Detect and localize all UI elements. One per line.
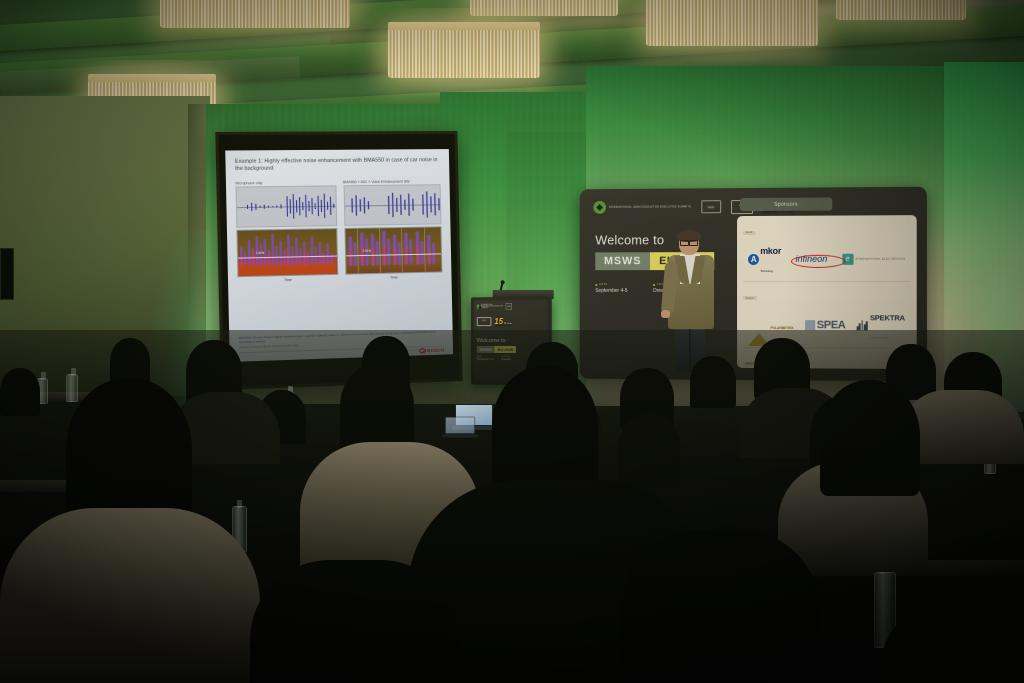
axis-x-left: Time bbox=[237, 277, 337, 283]
semi-logo: SEMI bbox=[506, 303, 512, 310]
amkor-subtext: Technology bbox=[760, 270, 773, 273]
panel-label-right: BMA550 + MIC + Voice Enhancement SW bbox=[343, 179, 441, 184]
sponsors-header: Sponsors bbox=[740, 197, 832, 211]
sponsor-logo-ieo: e INTERNATIONAL ELECTRONICS bbox=[842, 253, 905, 264]
water-bottle bbox=[66, 374, 78, 402]
khz-marker-left: 1 kHz bbox=[256, 250, 265, 254]
audience-member bbox=[340, 364, 414, 452]
tier-logos: A mkor Technology infineon e INTERNATION… bbox=[743, 240, 911, 277]
banner-welcome-text: Welcome to bbox=[595, 232, 664, 247]
podium-logo-row: INTERNATIONAL SEMICONDUCTOR EXECUTIVE SU… bbox=[477, 303, 512, 310]
audience-shoulders-foreground bbox=[620, 530, 820, 683]
banner-date: DATE September 4-5 bbox=[595, 283, 627, 293]
slide-title: Example 1: Highly effective noise enhanc… bbox=[235, 157, 440, 173]
sponsor-logo-infineon: infineon bbox=[792, 252, 832, 266]
spectrogram-svg bbox=[345, 228, 441, 274]
chandelier bbox=[470, 0, 618, 16]
waveform-svg bbox=[348, 188, 441, 221]
chandelier bbox=[646, 0, 818, 52]
iss-org-name: INTERNATIONAL SEMICONDUCTOR EXECUTIVE SU… bbox=[609, 205, 691, 209]
glasses-icon bbox=[680, 240, 698, 244]
audience-member bbox=[618, 414, 680, 486]
sponsor-tier-gold: Gold A mkor Technology infineon e INTERN… bbox=[737, 215, 917, 277]
chandelier bbox=[388, 22, 540, 84]
audience-member-foreground bbox=[492, 366, 598, 492]
spectrogram-right: Frequency bbox=[344, 227, 442, 275]
anniversary-suffix: th bbox=[504, 322, 506, 325]
spectrogram-left: Frequency bbox=[236, 228, 337, 277]
audience-laptop bbox=[442, 417, 477, 438]
date-value: September 4-5 bbox=[595, 287, 627, 293]
audience-member-foreground bbox=[820, 380, 920, 496]
iss-logo: INTERNATIONAL SEMICONDUCTOR EXECUTIVE SU… bbox=[477, 304, 504, 309]
iss-org-name: INTERNATIONAL SEMICONDUCTOR EXECUTIVE SU… bbox=[481, 304, 504, 309]
audience-member bbox=[0, 368, 40, 416]
waveform-svg bbox=[241, 189, 337, 222]
semi-logo: SEMI bbox=[701, 200, 721, 213]
spektra-mark-icon bbox=[857, 319, 868, 330]
iss-logo: INTERNATIONAL SEMICONDUCTOR EXECUTIVE SU… bbox=[593, 200, 691, 213]
anniversary-badge: 15 th Year bbox=[494, 317, 511, 326]
axis-x-right: Time bbox=[345, 274, 443, 280]
anniversary-number: 15 bbox=[494, 317, 503, 326]
iss-secondary-logo: I.S.S. bbox=[477, 317, 492, 326]
chandelier bbox=[836, 0, 966, 20]
date-key: DATE bbox=[595, 283, 627, 286]
chandelier bbox=[160, 0, 350, 32]
slide-panel-right: BMA550 + MIC + Voice Enhancement SW Freq… bbox=[343, 179, 443, 281]
audience-shoulders-foreground bbox=[0, 508, 260, 683]
audience-member-foreground bbox=[66, 378, 192, 528]
conference-room-photo: Example 1: Highly effective noise enhanc… bbox=[0, 0, 1024, 683]
anniversary-year-label: Year bbox=[507, 323, 512, 325]
waveform-right bbox=[343, 184, 441, 226]
tier-label: Gold bbox=[743, 230, 756, 234]
spea-mark-icon bbox=[805, 320, 815, 330]
khz-marker-right: 1 kHz bbox=[363, 248, 371, 252]
tier-label: Silver bbox=[743, 296, 757, 300]
sponsor-logo-spea: SPEA bbox=[805, 319, 846, 331]
slide-panel-left: Microphone only Frequency bbox=[235, 180, 337, 283]
amkor-mark-icon: A bbox=[748, 253, 759, 264]
audience-shoulders-foreground bbox=[250, 560, 460, 683]
waveform-left bbox=[236, 186, 337, 228]
wall-monitor bbox=[0, 248, 14, 300]
spectrogram-svg bbox=[238, 229, 337, 276]
spektra-wordmark: SPEKTRA bbox=[870, 313, 905, 322]
ieo-wordmark: INTERNATIONAL ELECTRONICS bbox=[855, 257, 905, 261]
iss-mark-icon bbox=[593, 201, 606, 214]
speaker-hand-clicker bbox=[661, 310, 670, 318]
slide-panels: Microphone only Frequency bbox=[235, 179, 442, 283]
amkor-wordmark: mkor bbox=[760, 246, 781, 256]
sponsor-logo-amkor: A mkor Technology bbox=[748, 241, 781, 277]
iss-mark-icon bbox=[477, 304, 479, 309]
audience-member bbox=[690, 356, 736, 408]
panel-label-left: Microphone only bbox=[235, 180, 335, 185]
tag-msws: MSWS bbox=[595, 252, 650, 270]
